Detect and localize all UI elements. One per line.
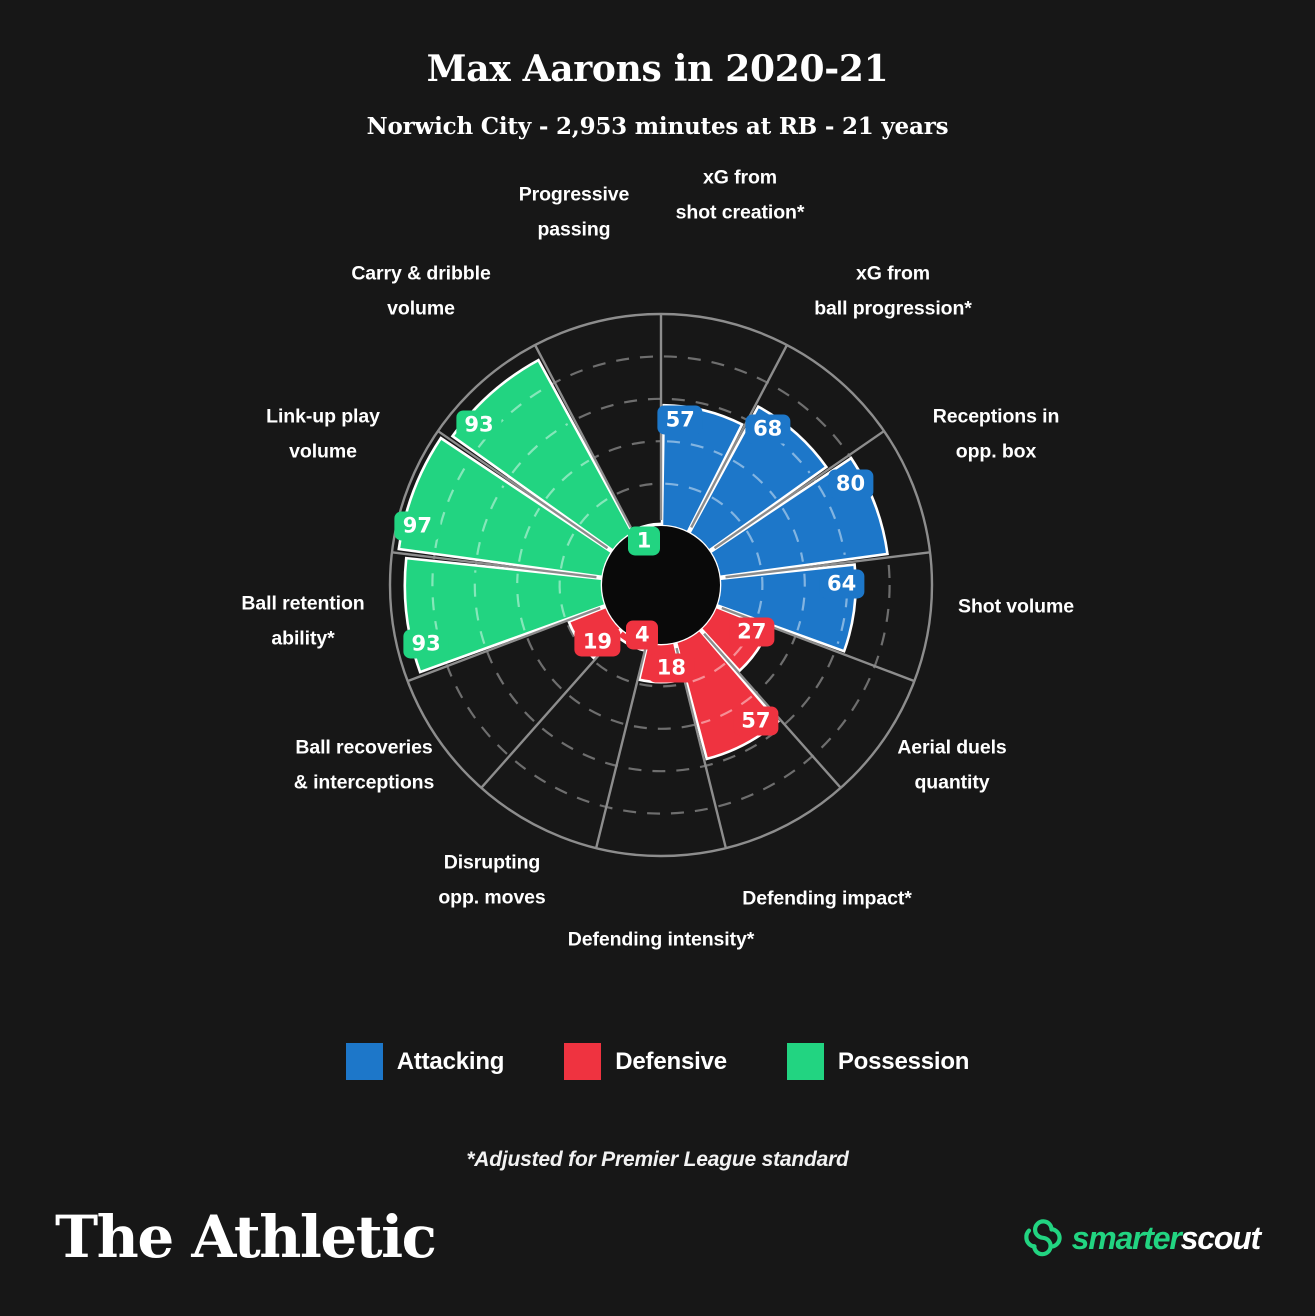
provider-word-scout: scout xyxy=(1181,1220,1260,1256)
axis-label-line2: ability* xyxy=(241,622,364,657)
chart-legend: AttackingDefensivePossession xyxy=(0,1043,1315,1080)
legend-item[interactable]: Attacking xyxy=(346,1043,505,1080)
axis-label: Defending impact* xyxy=(742,881,912,916)
legend-item[interactable]: Defensive xyxy=(564,1043,727,1080)
axis-label: Ball recoveries& interceptions xyxy=(294,731,434,802)
legend-label: Possession xyxy=(838,1048,969,1076)
spiral-icon xyxy=(1021,1218,1065,1258)
sector-value-pill: 57 xyxy=(733,706,778,735)
sector-value-pill: 4 xyxy=(626,621,658,650)
chart-center-hub xyxy=(602,526,720,644)
sector-value-pill: 27 xyxy=(729,618,774,647)
axis-label-line1: Disrupting xyxy=(444,852,541,874)
sector-value-pill: 80 xyxy=(828,470,873,499)
axis-label-line2: shot creation* xyxy=(676,196,805,231)
sector-value-pill: 68 xyxy=(745,414,790,443)
sector-value-pill: 1 xyxy=(628,526,660,555)
axis-label-line1: Ball recoveries xyxy=(295,737,432,759)
sector-value-pill: 97 xyxy=(395,512,440,541)
axis-label-line2: opp. box xyxy=(933,435,1060,470)
axis-label: Receptions inopp. box xyxy=(933,400,1060,471)
axis-label-line2: ball progression* xyxy=(814,292,972,327)
legend-swatch xyxy=(564,1043,601,1080)
axis-label: Ball retentionability* xyxy=(241,587,364,658)
provider-logo: smarterscout xyxy=(1021,1218,1260,1258)
provider-word-smarter: smarter xyxy=(1072,1220,1181,1256)
axis-label: Defending intensity* xyxy=(568,922,755,957)
sector-divider xyxy=(481,634,618,788)
axis-label-line1: Aerial duels xyxy=(897,737,1006,759)
legend-swatch xyxy=(787,1043,824,1080)
axis-label-line2: quantity xyxy=(897,766,1006,801)
axis-label: xG fromshot creation* xyxy=(676,161,805,232)
axis-label-line1: Shot volume xyxy=(958,595,1074,617)
legend-swatch xyxy=(346,1043,383,1080)
axis-label-line2: & interceptions xyxy=(294,766,434,801)
axis-label-line1: xG from xyxy=(703,167,777,189)
axis-label: Progressivepassing xyxy=(519,178,630,249)
sector-value-pill: 93 xyxy=(456,411,501,440)
axis-label-line2: passing xyxy=(519,213,630,248)
axis-label: xG fromball progression* xyxy=(814,257,972,328)
sector-value-pill: 19 xyxy=(575,627,620,656)
polar-bar-chart: xG fromshot creation*xG fromball progres… xyxy=(0,0,1315,1000)
publisher-logo: The Athletic xyxy=(55,1203,435,1271)
chart-page: Max Aarons in 2020-21 Norwich City - 2,9… xyxy=(0,0,1315,1316)
sector-value-pill: 64 xyxy=(819,570,864,599)
axis-label-line2: volume xyxy=(351,292,490,327)
axis-label: Carry & dribblevolume xyxy=(351,257,490,328)
sector-value-pill: 18 xyxy=(649,653,694,682)
axis-label-line1: Link-up play xyxy=(266,406,380,428)
axis-label-line1: Ball retention xyxy=(241,593,364,615)
legend-label: Attacking xyxy=(397,1048,505,1076)
sector-value-pill: 93 xyxy=(404,630,449,659)
axis-label-line1: Receptions in xyxy=(933,406,1060,428)
axis-label: Shot volume xyxy=(958,589,1074,624)
axis-label-line1: Carry & dribble xyxy=(351,263,490,285)
sector-value-pill: 57 xyxy=(658,406,703,435)
axis-label: Disruptingopp. moves xyxy=(438,846,545,917)
chart-footnote: *Adjusted for Premier League standard xyxy=(0,1148,1315,1172)
legend-label: Defensive xyxy=(615,1048,727,1076)
axis-label-line1: Progressive xyxy=(519,184,630,206)
axis-label: Aerial duelsquantity xyxy=(897,731,1006,802)
axis-label: Link-up playvolume xyxy=(266,400,380,471)
legend-item[interactable]: Possession xyxy=(787,1043,969,1080)
axis-label-line1: Defending impact* xyxy=(742,887,912,909)
axis-label-line2: volume xyxy=(266,435,380,470)
axis-label-line1: xG from xyxy=(856,263,930,285)
provider-wordmark: smarterscout xyxy=(1072,1222,1260,1254)
axis-label-line1: Defending intensity* xyxy=(568,928,755,950)
axis-label-line2: opp. moves xyxy=(438,881,545,916)
polar-chart-svg xyxy=(0,0,1315,1000)
